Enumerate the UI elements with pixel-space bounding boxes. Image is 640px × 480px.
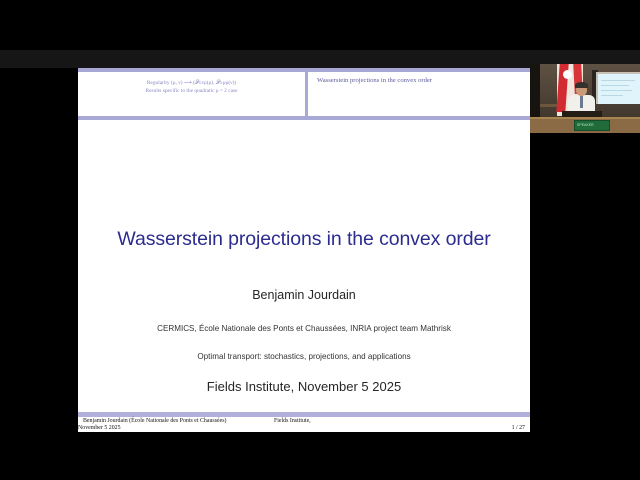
author-name: Benjamin Jourdain <box>78 288 530 302</box>
nav-section-title-box[interactable]: Wasserstein projections in the convex or… <box>308 72 530 116</box>
video-flag-emblem <box>563 70 572 79</box>
slide-footline: Benjamin Jourdain (École Nationale des P… <box>78 412 530 432</box>
nav-subsection-line-1: Regularity (μ, ν) ⟶ (𝒫≤νρ(μ), 𝒫≥μρ(ν)) <box>78 79 305 87</box>
footline-content: Benjamin Jourdain (École Nationale des P… <box>78 417 530 432</box>
nav-subsection-line-2: Results specific to the quadratic ρ = 2 … <box>78 87 305 95</box>
video-screen-text-line-1 <box>601 80 635 81</box>
nav-section-current[interactable]: Regularity (μ, ν) ⟶ (𝒫≤νρ(μ), 𝒫≥μρ(ν)) R… <box>78 72 305 116</box>
nav-section-title: Wasserstein projections in the convex or… <box>317 77 530 84</box>
speaker-video-feed[interactable]: SPEAKER <box>530 64 640 133</box>
footline-page-number: 1 / 27 <box>512 425 525 431</box>
screen-root: Regularity (μ, ν) ⟶ (𝒫≤νρ(μ), 𝒫≥μρ(ν)) R… <box>0 0 640 480</box>
video-projection-screen <box>596 72 640 104</box>
video-screen-text-line-2 <box>601 85 629 86</box>
video-presenter-lanyard <box>580 96 583 108</box>
page-title: Wasserstein projections in the convex or… <box>78 228 530 251</box>
event-name: Optimal transport: stochastics, projecti… <box>78 352 530 361</box>
venue-and-date: Fields Institute, November 5 2025 <box>78 379 530 394</box>
video-screen-text-line-3 <box>601 90 632 91</box>
presentation-slide: Regularity (μ, ν) ⟶ (𝒫≤νρ(μ), 𝒫≥μρ(ν)) R… <box>78 68 530 432</box>
video-green-sign-text: SPEAKER <box>577 123 594 127</box>
video-screen-text-line-4 <box>601 95 623 96</box>
video-green-sign: SPEAKER <box>574 120 610 131</box>
slide-body: Wasserstein projections in the convex or… <box>78 120 530 412</box>
slide-navigation-header: Regularity (μ, ν) ⟶ (𝒫≤νρ(μ), 𝒫≥μρ(ν)) R… <box>78 68 530 120</box>
author-affiliation: CERMICS, École Nationale des Ponts et Ch… <box>78 324 530 333</box>
footline-venue-line-1: Fields Institute, <box>274 418 311 424</box>
footline-venue-line-2: November 5 2025 <box>78 425 121 431</box>
footline-author: Benjamin Jourdain (École Nationale des P… <box>83 418 226 424</box>
video-presenter-hair <box>575 82 588 88</box>
